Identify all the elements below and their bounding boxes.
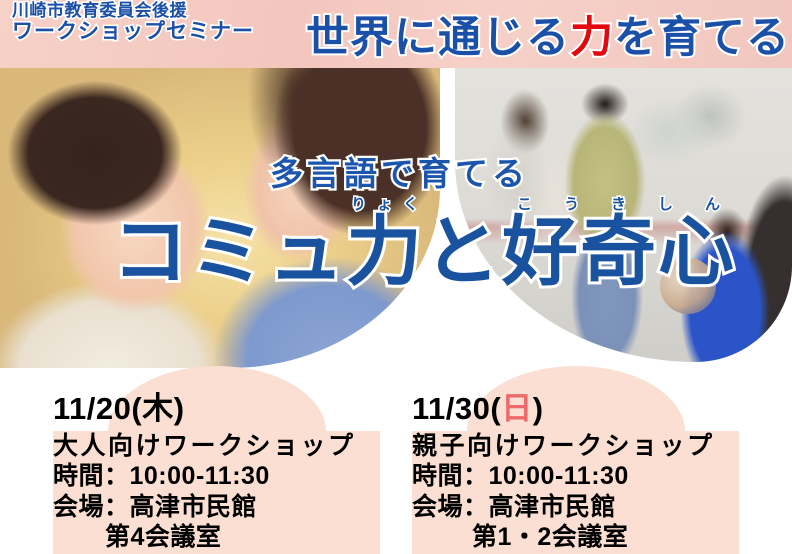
- hero-ruby-base-1: 力: [346, 210, 424, 295]
- hero-main-copy: コミュ力りょくと好奇心こうきしん: [112, 196, 736, 296]
- header-headline: 世界に通じる力を育てる: [306, 3, 790, 65]
- header-headline-accent: 力: [570, 14, 614, 62]
- hero-main-copy-ruby-1: 力りょく: [346, 210, 424, 295]
- card-date-paren-close: ): [533, 391, 544, 426]
- header-supporter-line: 川崎市教育委員会後援: [12, 2, 312, 20]
- card-date-dayofweek: 日: [501, 391, 533, 426]
- hero-ruby-text-2: こうきしん: [502, 196, 736, 213]
- hero-ruby-base-2: 好奇心: [502, 210, 736, 295]
- session-card-adult: 11/20(木) 大人向けワークショップ 時間：10:00-11:30 会場：高…: [53, 396, 380, 554]
- hero-ruby-text-1: りょく: [346, 196, 424, 213]
- card-date: 11/20(木): [53, 383, 380, 431]
- card-date: 11/30(日): [412, 383, 739, 431]
- card-details: 大人向けワークショップ 時間：10:00-11:30 会場：高津市民館 第4会議…: [53, 431, 380, 552]
- card-venue: 会場：高津市民館: [53, 492, 380, 522]
- poster-canvas: 川崎市教育委員会後援 ワークショップセミナー 世界に通じる力を育てる 多言語で育…: [0, 0, 792, 554]
- card-details: 親子向けワークショップ 時間：10:00-11:30 会場：高津市民館 第1・2…: [412, 431, 739, 552]
- hero-main-copy-part2: と: [424, 210, 502, 295]
- card-venue: 会場：高津市民館: [412, 492, 739, 522]
- header-supporter-block: 川崎市教育委員会後援 ワークショップセミナー: [12, 2, 312, 44]
- card-time: 時間：10:00-11:30: [412, 461, 739, 491]
- card-target-audience: 親子向けワークショップ: [412, 431, 739, 461]
- header-seminar-line: ワークショップセミナー: [12, 21, 312, 44]
- header-headline-part2: を育てる: [614, 14, 790, 62]
- card-room: 第1・2会議室: [412, 522, 739, 552]
- header-headline-part1: 世界に通じる: [306, 14, 570, 62]
- card-time: 時間：10:00-11:30: [53, 461, 380, 491]
- hero-sub-copy: 多言語で育てる: [270, 147, 529, 195]
- card-room: 第4会議室: [53, 522, 380, 552]
- card-date-paren-open: (: [490, 391, 501, 426]
- hero-main-copy-ruby-2: 好奇心こうきしん: [502, 210, 736, 295]
- session-card-family: 11/30(日) 親子向けワークショップ 時間：10:00-11:30 会場：高…: [412, 396, 739, 554]
- card-target-audience: 大人向けワークショップ: [53, 431, 380, 461]
- card-date-number: 11/30: [412, 391, 490, 426]
- hero-main-copy-part1: コミュ: [112, 210, 346, 295]
